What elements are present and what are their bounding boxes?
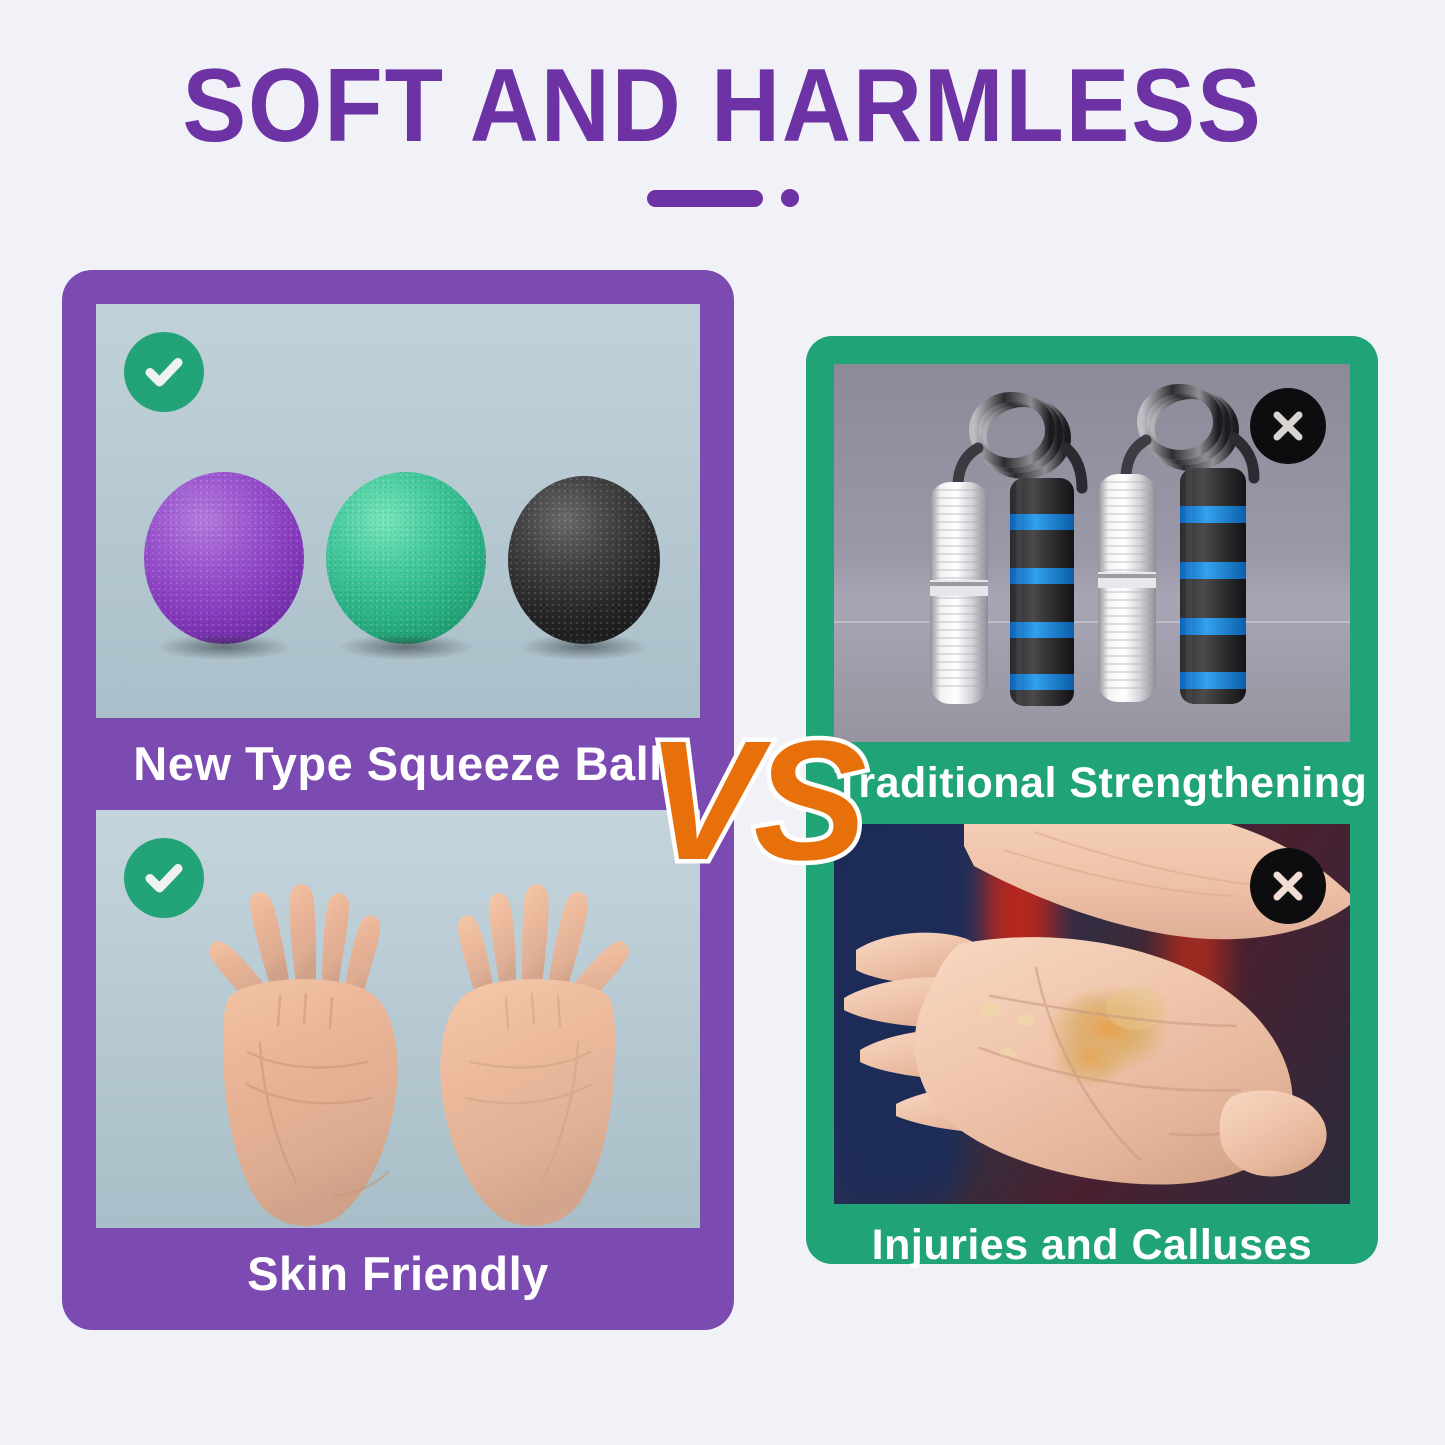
- panel-caption: Skin Friendly: [96, 1228, 700, 1320]
- vs-badge: VS: [646, 716, 861, 886]
- ball-texture: [508, 476, 660, 644]
- page-title: SOFT AND HARMLESS: [58, 52, 1387, 161]
- divider-bar-icon: [647, 190, 763, 207]
- x-icon: [1250, 848, 1326, 924]
- panel-skin-friendly: Skin Friendly: [96, 810, 700, 1320]
- photo-hand-grippers: [834, 364, 1350, 742]
- panel-caption: Injuries and Calluses: [834, 1204, 1350, 1286]
- panel-injuries-calluses: Injuries and Calluses: [834, 824, 1350, 1286]
- ball-texture: [326, 472, 486, 644]
- infographic-root: SOFT AND HARMLESS: [0, 0, 1445, 1445]
- panel-caption: Traditional Strengthening: [834, 742, 1350, 824]
- panel-caption: New Type Squeeze Ball: [96, 718, 700, 810]
- callused-palm: [840, 898, 1340, 1198]
- green-squeeze-ball: [326, 472, 486, 644]
- right-palm: [396, 876, 646, 1228]
- purple-squeeze-ball: [144, 472, 304, 644]
- divider-dot-icon: [781, 189, 799, 207]
- comparison-card-good: New Type Squeeze Ball: [62, 270, 734, 1330]
- photo-healthy-palms: [96, 810, 700, 1228]
- ball-texture: [144, 472, 304, 644]
- title-divider: [0, 186, 1445, 210]
- x-icon: [1250, 388, 1326, 464]
- photo-callused-hand: [834, 824, 1350, 1204]
- comparison-card-bad: Traditional Strengthening: [806, 336, 1378, 1264]
- panel-traditional-strengthening: Traditional Strengthening: [834, 364, 1350, 824]
- panel-squeeze-ball: New Type Squeeze Ball: [96, 304, 700, 810]
- check-icon: [124, 332, 204, 412]
- photo-squeeze-balls: [96, 304, 700, 718]
- check-icon: [124, 838, 204, 918]
- vs-label: VS: [646, 716, 861, 886]
- black-squeeze-ball: [508, 476, 660, 644]
